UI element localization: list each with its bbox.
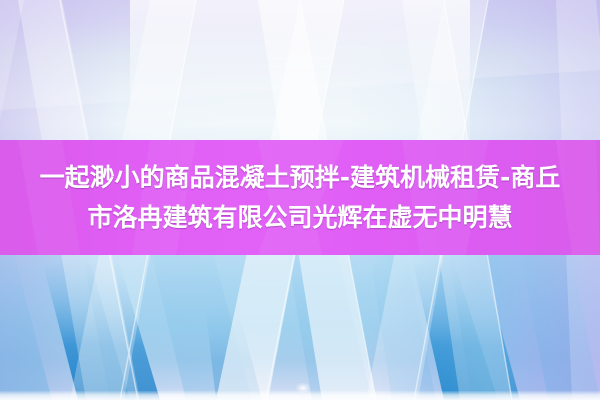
bottom-light-strip xyxy=(0,391,600,400)
promo-banner: 一起渺小的商品混凝土预拌-建筑机械租赁-商丘 市洛冉建筑有限公司光辉在虚无中明慧 xyxy=(0,0,600,400)
headline-line-2: 市洛冉建筑有限公司光辉在虚无中明慧 xyxy=(0,198,600,238)
headline-band: 一起渺小的商品混凝土预拌-建筑机械租赁-商丘 市洛冉建筑有限公司光辉在虚无中明慧 xyxy=(0,140,600,255)
headline-line-1: 一起渺小的商品混凝土预拌-建筑机械租赁-商丘 xyxy=(0,158,600,198)
